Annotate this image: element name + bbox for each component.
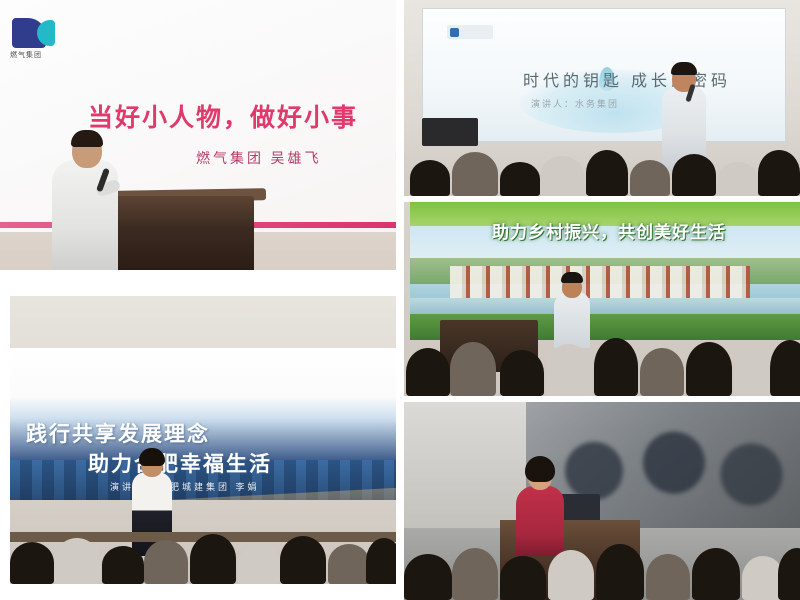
slide-title-line1: 助力乡村振兴，共创美好生活 — [492, 218, 726, 243]
slide-logo: 燃气集团 — [8, 18, 66, 62]
slide-subtitle: 燃气集团 吴雄飞 — [196, 148, 322, 168]
speaker-body — [52, 160, 118, 270]
audience-row — [404, 316, 800, 396]
slide-subtitle: 演讲人：水务集团 — [531, 97, 619, 110]
speaker-hair — [525, 456, 555, 482]
speaker-hair — [561, 272, 583, 283]
speaker-hair — [671, 62, 697, 75]
speaker-hair — [71, 130, 103, 147]
logo-label: 燃气集团 — [10, 50, 42, 60]
audience-row — [10, 532, 396, 584]
photo-top-left: 燃气集团 当好小人物，做好小事 燃气集团 吴雄飞 — [0, 0, 396, 270]
slide-title-line1: 践行共享发展理念 — [26, 418, 210, 448]
photo-bottom-right — [404, 402, 800, 600]
wall-left — [404, 402, 526, 528]
slide-title-line1: 当好小人物，做好小事 — [88, 98, 358, 134]
slide-village — [450, 266, 750, 300]
audience-row — [404, 138, 800, 196]
logo-mark-icon — [12, 18, 46, 48]
slide-logo-badge — [447, 25, 493, 39]
speaker-hair — [139, 448, 165, 466]
photo-bottom-left: 践行共享发展理念 助力合肥幸福生活 演讲人：合肥城建集团 李娟 — [10, 296, 396, 584]
projection-screen: 践行共享发展理念 助力合肥幸福生活 演讲人：合肥城建集团 李娟 — [10, 348, 396, 500]
photo-collage: 燃气集团 当好小人物，做好小事 燃气集团 吴雄飞 时代的钥匙 成长的密码 — [0, 0, 800, 600]
audience-row — [404, 540, 800, 600]
slide-title-line2: 助力合肥幸福生活 — [88, 448, 272, 478]
photo-top-right: 时代的钥匙 成长的密码 演讲人：水务集团 — [404, 0, 800, 196]
photo-middle-right: 助力乡村振兴，共创美好生活 — [404, 202, 800, 396]
